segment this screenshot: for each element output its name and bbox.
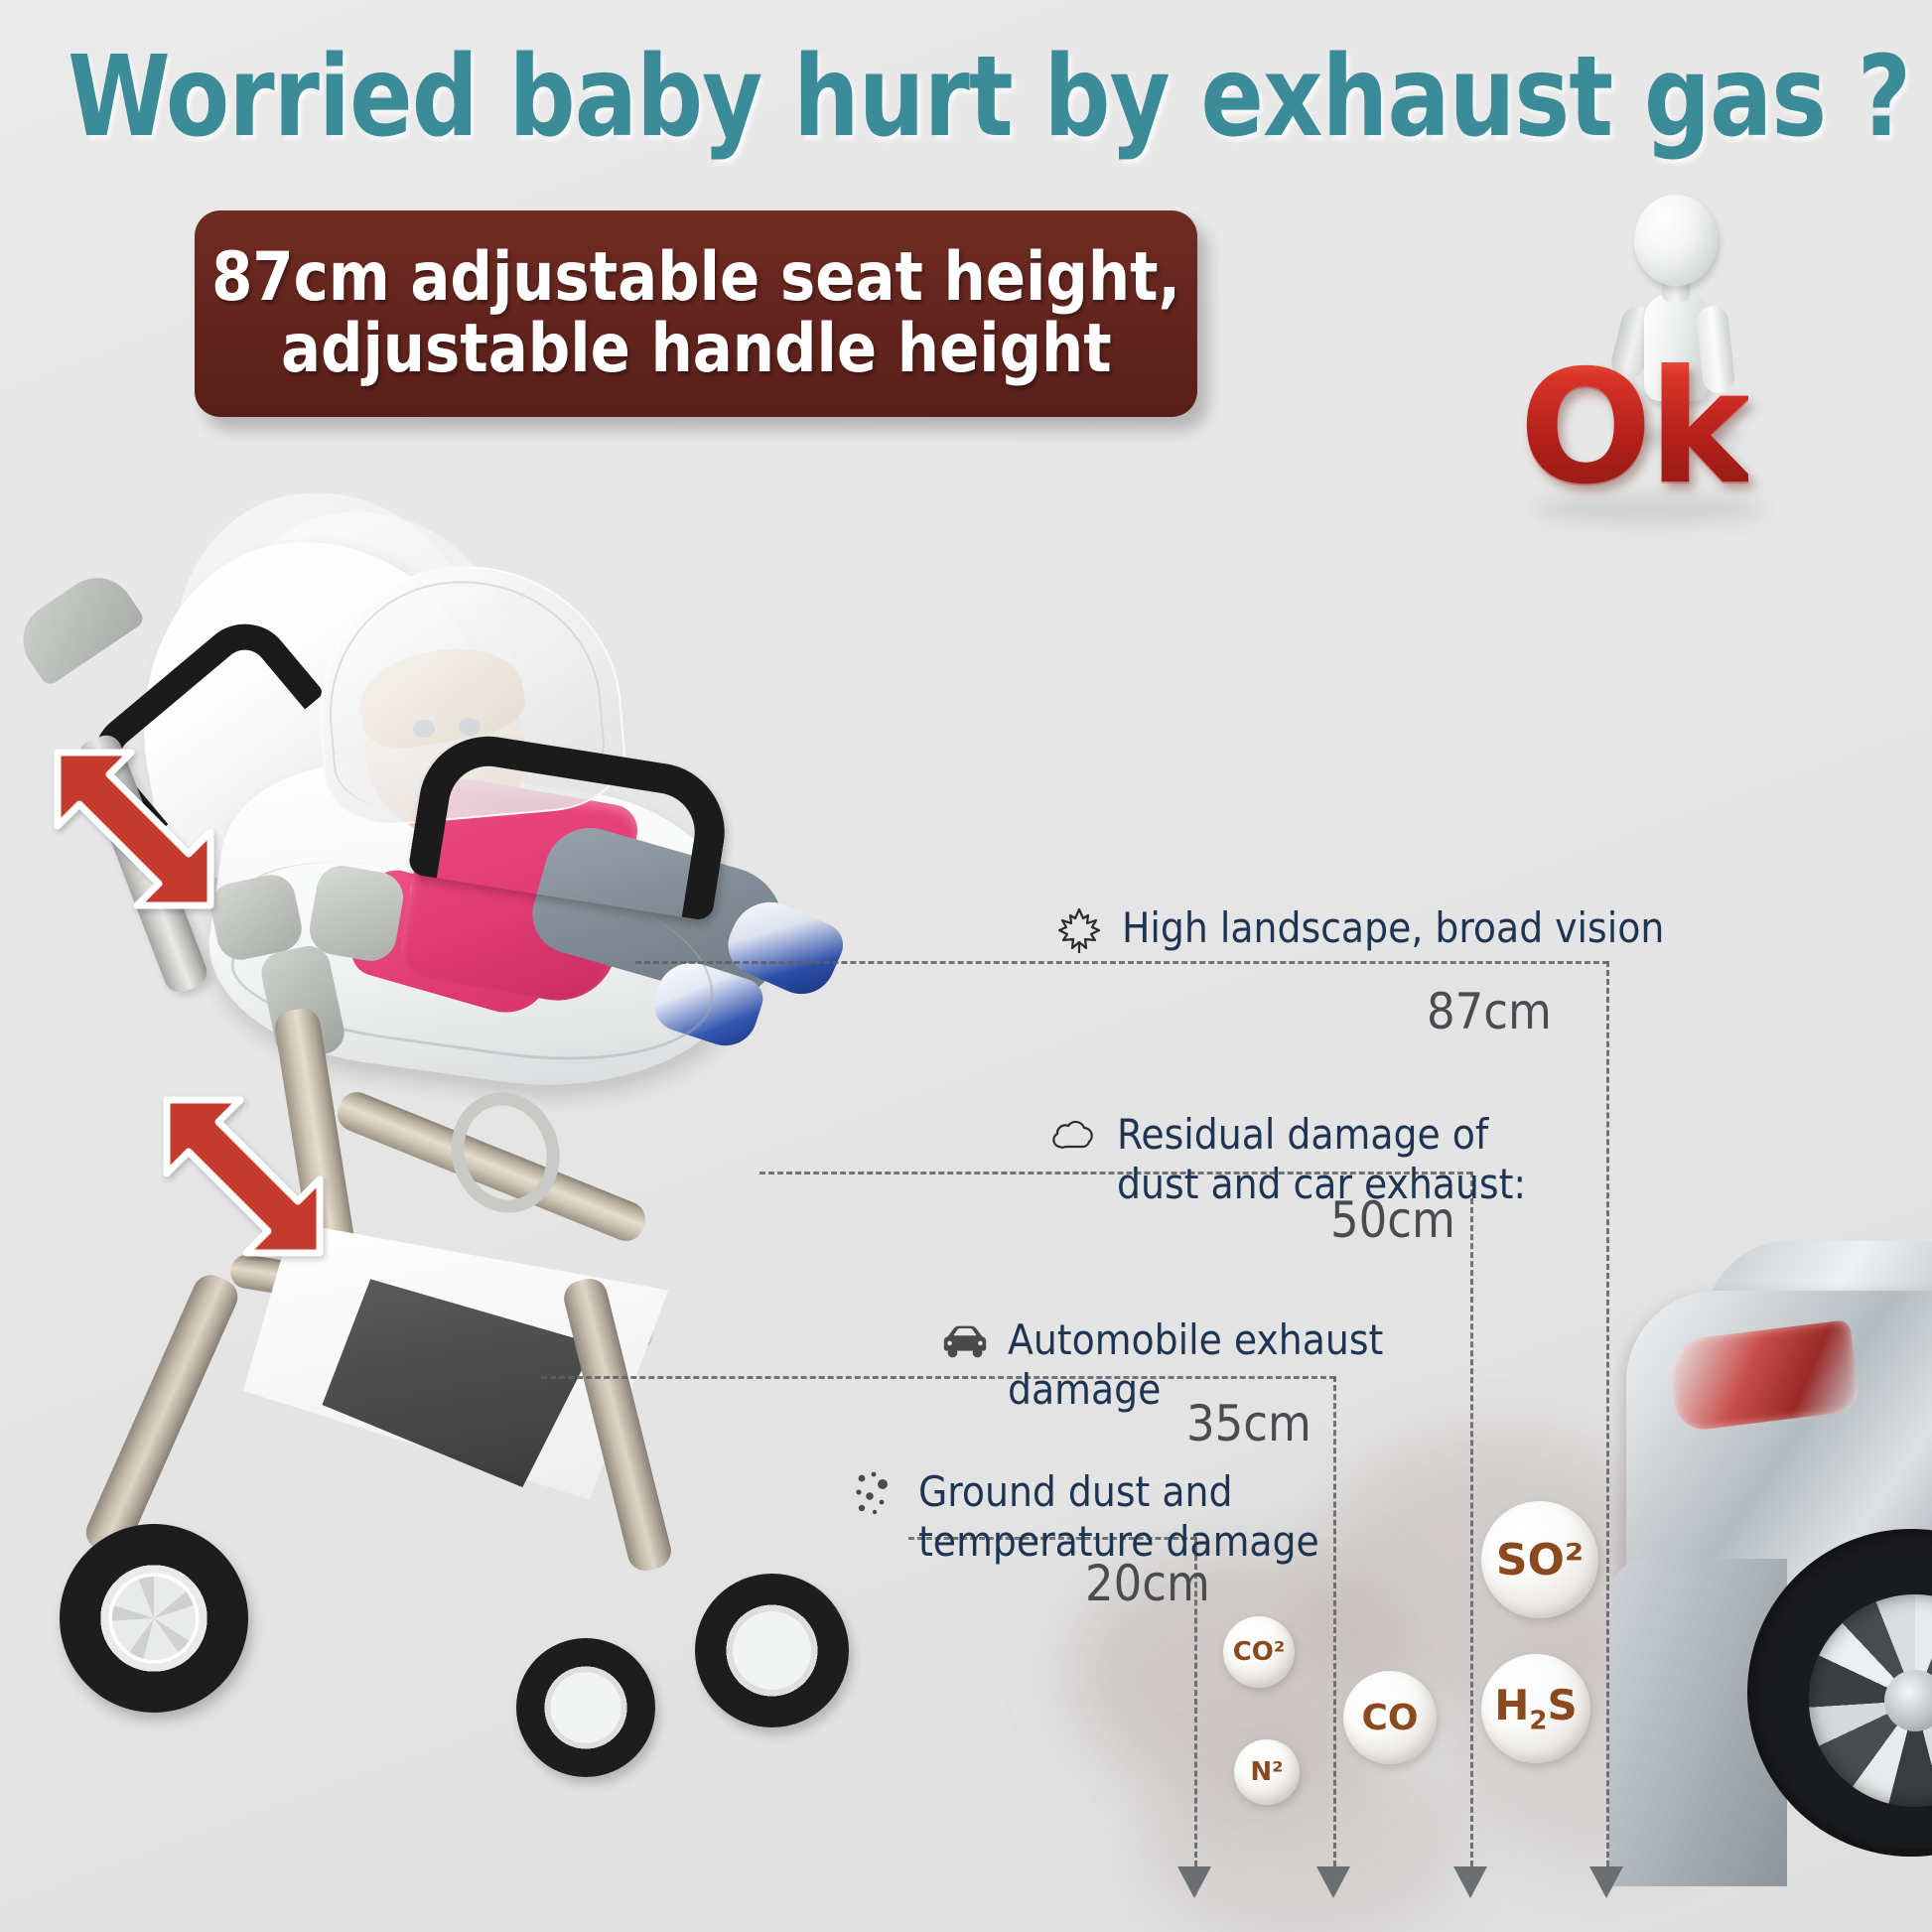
bracket-arrow-50cm bbox=[1453, 1866, 1487, 1898]
bracket-hline-87cm bbox=[635, 961, 1608, 964]
annotation-label: Residual damage of dust and car exhaust: bbox=[1117, 1110, 1526, 1208]
bracket-arrow-87cm bbox=[1589, 1866, 1623, 1898]
stroller-illustration: Hot Mom bbox=[0, 452, 913, 1901]
annotation-high-landscape: High landscape, broad vision bbox=[1052, 903, 1664, 957]
stroller-rear-wheel bbox=[60, 1524, 248, 1713]
seat-rotation-joint bbox=[306, 862, 407, 965]
infographic-canvas: Worried baby hurt by exhaust gas ? 87cm … bbox=[0, 0, 1932, 1932]
frame-tube-rear-leg bbox=[80, 1270, 243, 1561]
dimension-87cm: 87cm bbox=[1427, 983, 1552, 1040]
handle-top-clamp bbox=[9, 563, 147, 687]
annotation-label: Ground dust and temperature damage bbox=[918, 1467, 1319, 1566]
annotation-ground-dust: Ground dust and temperature damage bbox=[849, 1467, 1319, 1566]
gas-formula: N² bbox=[1250, 1757, 1283, 1787]
gas-formula: CO bbox=[1361, 1698, 1418, 1738]
page-title: Worried baby hurt by exhaust gas ? bbox=[68, 42, 1864, 153]
handle-height-adjust-arrow bbox=[40, 735, 268, 933]
gas-bubble-h2s: H2S bbox=[1481, 1654, 1590, 1763]
bracket-vline-35cm bbox=[1333, 1376, 1336, 1866]
bracket-arrow-35cm bbox=[1316, 1866, 1350, 1898]
dimension-35cm: 35cm bbox=[1186, 1395, 1311, 1452]
stroller-front-wheel-left bbox=[516, 1638, 655, 1777]
dimension-20cm: 20cm bbox=[1085, 1555, 1210, 1612]
bracket-vline-50cm bbox=[1470, 1172, 1473, 1866]
gas-bubble-so2: SO² bbox=[1481, 1501, 1598, 1618]
ok-badge-label: Ok bbox=[1519, 349, 1748, 506]
bracket-arrow-20cm bbox=[1177, 1866, 1211, 1898]
callout-line-1: 87cm adjustable seat height, bbox=[211, 242, 1180, 314]
dimension-50cm: 50cm bbox=[1330, 1191, 1455, 1249]
callout-banner: 87cm adjustable seat height, adjustable … bbox=[195, 210, 1197, 417]
gas-formula: CO² bbox=[1233, 1637, 1286, 1667]
gas-bubble-co2: CO² bbox=[1223, 1616, 1295, 1688]
annotation-automobile-exhaust: Automobile exhaust damage bbox=[938, 1315, 1383, 1414]
maple-leaf-icon bbox=[1052, 903, 1106, 957]
gas-bubble-co: CO bbox=[1343, 1671, 1437, 1764]
car-illustration bbox=[1598, 1231, 1932, 1932]
mannequin-head bbox=[1634, 195, 1718, 286]
dust-particles-icon bbox=[849, 1467, 902, 1521]
annotation-label: High landscape, broad vision bbox=[1122, 903, 1664, 953]
bracket-vline-87cm bbox=[1606, 961, 1609, 1866]
smoke-plume-3 bbox=[1142, 1747, 1459, 1932]
gas-formula: SO² bbox=[1496, 1535, 1584, 1586]
stroller-front-wheel-right bbox=[695, 1574, 849, 1727]
gas-bubble-n2: N² bbox=[1234, 1739, 1300, 1805]
gas-formula: H2S bbox=[1494, 1681, 1578, 1735]
cloud-icon bbox=[1047, 1110, 1101, 1164]
callout-line-2: adjustable handle height bbox=[281, 314, 1112, 385]
seat-height-adjust-arrow bbox=[149, 1082, 377, 1281]
car-icon bbox=[938, 1315, 992, 1369]
